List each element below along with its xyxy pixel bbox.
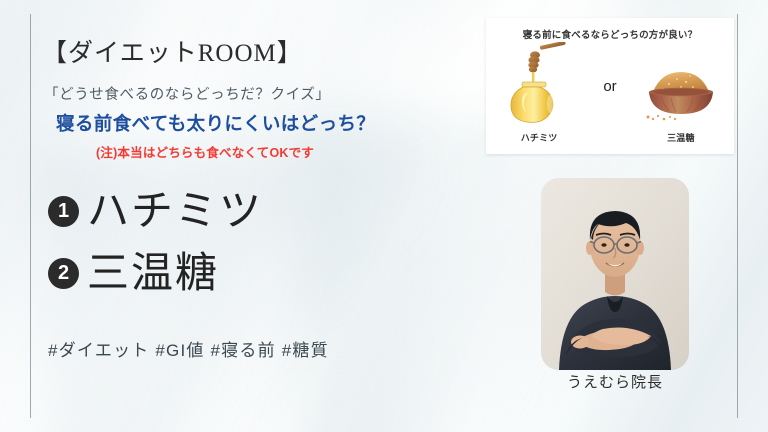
- hashtag-line: #ダイエット #GI値 #寝る前 #糖質: [48, 336, 329, 361]
- choice-label: ハチミツ: [87, 190, 263, 232]
- choice-number-badge: 2: [48, 258, 79, 289]
- honey-jar-icon: [504, 42, 574, 129]
- comparison-card-items: ハチミツ or: [486, 42, 734, 154]
- choice-number-badge: 1: [48, 196, 79, 227]
- slide-canvas: 【ダイエットROOM】 「どうせ食べるのならどっちだ？クイズ」 寝る前食べても太…: [0, 0, 768, 432]
- brown-sugar-bowl-icon: [641, 42, 721, 129]
- comparison-option-honey: ハチミツ: [497, 42, 581, 144]
- comparison-label-honey: ハチミツ: [521, 131, 558, 144]
- right-vertical-rule: [737, 14, 738, 418]
- comparison-or-text: or: [603, 78, 616, 95]
- comparison-card: 寝る前に食べるならどっちの方が良い？: [486, 18, 734, 154]
- doctor-caption: うえむら院長: [541, 371, 689, 392]
- comparison-label-sugar: 三温糖: [667, 131, 695, 144]
- page-subtitle: 「どうせ食べるのならどっちだ？クイズ」: [44, 83, 330, 104]
- doctor-portrait-photo: [541, 178, 689, 370]
- list-item: 2 三温糖: [48, 245, 263, 301]
- comparison-card-heading: 寝る前に食べるならどっちの方が良い？: [486, 27, 734, 41]
- comparison-option-sugar: 三温糖: [639, 42, 723, 144]
- choice-label: 三温糖: [87, 252, 219, 294]
- left-vertical-rule: [30, 14, 31, 418]
- quiz-question: 寝る前食べても太りにくいはどっち？: [56, 110, 375, 136]
- list-item: 1 ハチミツ: [48, 183, 263, 239]
- quiz-note: (注)本当はどちらも食べなくてOKです: [96, 142, 314, 161]
- choice-list: 1 ハチミツ 2 三温糖: [48, 183, 263, 307]
- page-title: 【ダイエットROOM】: [42, 33, 303, 69]
